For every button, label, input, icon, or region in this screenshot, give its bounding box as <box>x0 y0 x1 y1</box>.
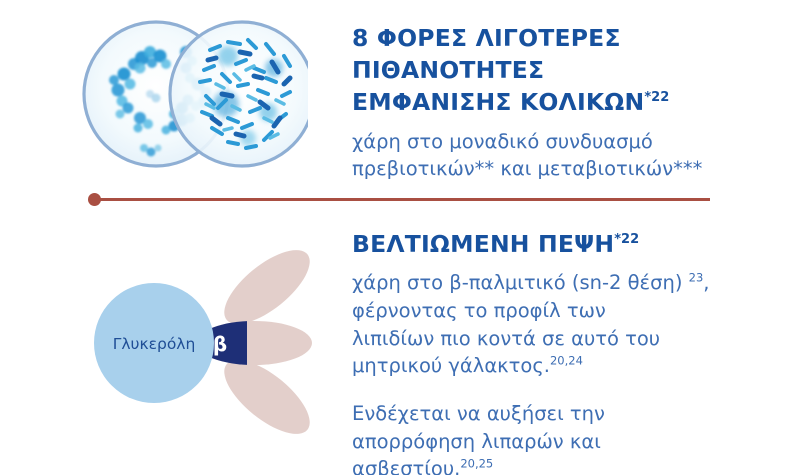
digestion-body-paragraph-2: Ενδέχεται να αυξήσει την απορρόφηση λιπα… <box>352 400 772 475</box>
digestion-headline: ΒΕΛΤΙΩΜΕΝΗ ΠΕΨΗ*22 <box>352 228 772 260</box>
digestion-p1-ref2: 20,24 <box>550 354 583 368</box>
beta-label: β <box>213 332 227 356</box>
colic-body-text: χάρη στο μοναδικό συνδυασμό πρεβιοτικών*… <box>352 128 772 183</box>
colic-headline: 8 ΦΟΡΕΣ ΛΙΓΟΤΕΡΕΣ ΠΙΘΑΝΟΤΗΤΕΣ ΕΜΦΑΝΙΣΗΣ … <box>352 22 772 119</box>
petri-dishes-illustration <box>78 8 308 178</box>
digestion-headline-superscript: *22 <box>614 232 639 247</box>
colic-headline-text: 8 ΦΟΡΕΣ ΛΙΓΟΤΕΡΕΣ ΠΙΘΑΝΟΤΗΤΕΣ ΕΜΦΑΝΙΣΗΣ … <box>352 24 644 116</box>
petri-dish-bacilli <box>170 22 308 166</box>
divider-line <box>92 198 710 201</box>
digestion-body-paragraph-1: χάρη στο β-παλμιτικό (sn-2 θέση) 23, φέρ… <box>352 269 772 380</box>
digestion-p1-ref1: 23 <box>689 271 704 285</box>
section-divider <box>88 193 710 207</box>
colic-headline-superscript: *22 <box>644 91 669 106</box>
digestion-text-block: ΒΕΛΤΙΩΜΕΝΗ ΠΕΨΗ*22 χάρη στο β-παλμιτικό … <box>352 228 772 475</box>
digestion-p2-ref1: 20,25 <box>460 457 493 471</box>
triglyceride-illustration: Γλυκερόλη β <box>82 232 322 454</box>
glycerol-label: Γλυκερόλη <box>113 335 196 353</box>
colic-text-block: 8 ΦΟΡΕΣ ΛΙΓΟΤΕΡΕΣ ΠΙΘΑΝΟΤΗΤΕΣ ΕΜΦΑΝΙΣΗΣ … <box>352 22 772 183</box>
digestion-headline-text: ΒΕΛΤΙΩΜΕΝΗ ΠΕΨΗ <box>352 230 614 258</box>
divider-dot <box>88 193 101 206</box>
digestion-p1-line1: χάρη στο β-παλμιτικό (sn-2 θέση) <box>352 271 689 294</box>
infographic-page: 8 ΦΟΡΕΣ ΛΙΓΟΤΕΡΕΣ ΠΙΘΑΝΟΤΗΤΕΣ ΕΜΦΑΝΙΣΗΣ … <box>0 0 800 475</box>
